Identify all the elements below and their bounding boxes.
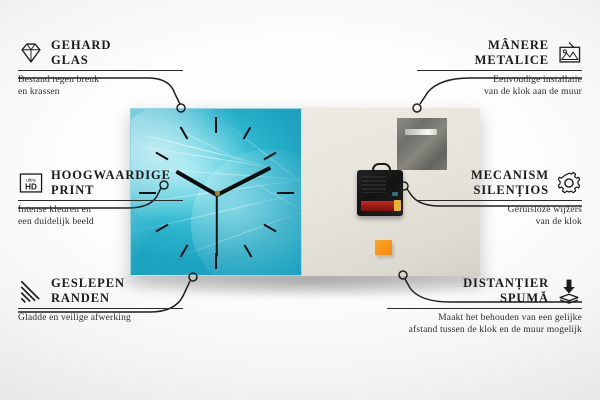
feature-subtitle-line2: van de klok aan de muur	[417, 86, 582, 98]
feature-rule	[18, 200, 183, 201]
picture-hanger-icon	[556, 40, 582, 66]
feature-subtitle-line1: Geruisloze wijzers	[417, 204, 582, 216]
feature-distantier-spuma: DISTANȚIER SPUMĂ Maakt het behouden van …	[387, 276, 582, 337]
foam-spacer-icon	[556, 278, 582, 304]
feature-subtitle-line2: een duidelijk beeld	[18, 216, 183, 228]
feature-title-line1: GESLEPEN	[51, 276, 125, 291]
feature-subtitle-line1: Intense kleuren en	[18, 204, 183, 216]
feature-title-line2: RANDEN	[51, 291, 125, 306]
clock-pivot	[215, 191, 220, 196]
clock-tick-12	[215, 117, 217, 133]
feature-title-line1: DISTANȚIER	[387, 276, 549, 291]
feature-header: GESLEPEN RANDEN	[18, 276, 183, 305]
battery-positive-terminal	[394, 200, 401, 211]
feature-rule	[18, 308, 183, 309]
feature-gehard-glas: GEHARD GLAS Bestand tegen breuk en krass…	[18, 38, 183, 99]
feature-title-line2: PRINT	[51, 183, 171, 198]
ultra-hd-icon: ultra HD	[18, 170, 44, 196]
infographic-canvas: GEHARD GLAS Bestand tegen breuk en krass…	[0, 0, 600, 400]
feature-subtitle-line1: Gladde en veilige afwerking	[18, 312, 183, 324]
feature-subtitle-line1: Maakt het behouden van een gelijke	[387, 312, 582, 324]
feature-subtitle-line1: Eenvoudige installatie	[417, 74, 582, 86]
svg-text:HD: HD	[25, 182, 37, 191]
beveled-edges-icon	[18, 278, 44, 304]
clock-tick-7	[180, 244, 189, 257]
feature-manere-metalice: MÂNERE METALICE Eenvoudige installatie v…	[417, 38, 582, 99]
clock-tick-3	[277, 192, 294, 194]
feature-header: MECANISM SILENȚIOS	[417, 168, 582, 197]
mechanism-indicator	[392, 192, 398, 196]
feature-rule	[18, 70, 183, 71]
feature-subtitle-line2: van de klok	[417, 216, 582, 228]
battery	[361, 201, 398, 211]
feature-rule	[387, 308, 582, 309]
feature-title-line1: GEHARD	[51, 38, 111, 53]
feature-title-line2: GLAS	[51, 53, 111, 68]
feature-rule	[417, 70, 582, 71]
feature-header: DISTANȚIER SPUMĂ	[387, 276, 582, 305]
feature-title-line1: HOOGWAARDIGE	[51, 168, 171, 183]
diamond-icon	[18, 40, 44, 66]
feature-mecanism-silentios: MECANISM SILENȚIOS Geruisloze wijzers va…	[417, 168, 582, 229]
hanger-slot	[405, 129, 437, 135]
feature-subtitle-line2: afstand tussen de klok en de muur mogeli…	[387, 324, 582, 336]
feature-header: MÂNERE METALICE	[417, 38, 582, 67]
feature-hoogwaardige-print: ultra HD HOOGWAARDIGE PRINT Intense kleu…	[18, 168, 183, 229]
clock-second-hand	[216, 195, 218, 257]
feature-title-line2: SPUMĂ	[387, 291, 549, 306]
feature-title-line1: MECANISM	[417, 168, 549, 183]
feature-geslepen-randen: GESLEPEN RANDEN Gladde en veilige afwerk…	[18, 276, 183, 324]
mechanism-hanging-loop	[372, 163, 391, 175]
feature-subtitle-line2: en krassen	[18, 86, 183, 98]
gear-icon	[556, 170, 582, 196]
mechanism-detail	[362, 176, 386, 193]
feature-subtitle-line1: Bestand tegen breuk	[18, 74, 183, 86]
feature-rule	[417, 200, 582, 201]
feature-title-line2: METALICE	[417, 53, 549, 68]
feature-header: GEHARD GLAS	[18, 38, 183, 67]
foam-spacer	[375, 240, 392, 255]
feature-header: ultra HD HOOGWAARDIGE PRINT	[18, 168, 183, 197]
feature-title-line1: MÂNERE	[417, 38, 549, 53]
feature-title-line2: SILENȚIOS	[417, 183, 549, 198]
metal-hanger-plate	[397, 118, 447, 170]
clock-mechanism-box	[357, 170, 403, 216]
